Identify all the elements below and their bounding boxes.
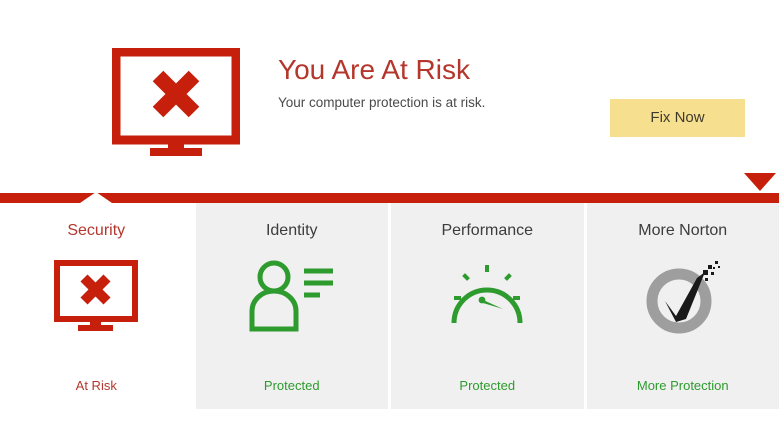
tab-security-status: At Risk [0,378,193,394]
red-divider-bar [0,193,779,203]
status-title: You Are At Risk [278,52,598,88]
tab-identity[interactable]: Identity Protected [193,203,389,409]
identity-card-icon [248,255,336,337]
chevron-down-icon[interactable] [744,173,776,191]
norton-security-window: You Are At Risk Your computer protection… [0,0,779,421]
tab-performance-label: Performance [441,221,533,241]
tab-more-norton-status: More Protection [587,378,779,394]
tab-identity-status: Protected [196,378,389,394]
tab-tile-row: Security At Risk Identity [0,203,779,409]
tab-identity-label: Identity [266,221,318,241]
speedometer-icon [445,255,529,337]
monitor-x-icon [54,255,138,337]
monitor-x-icon [112,48,240,156]
status-subtitle: Your computer protection is at risk. [278,94,598,112]
tab-performance[interactable]: Performance Protected [388,203,584,409]
norton-checkmark-icon [641,255,725,337]
tab-security-label: Security [67,221,125,241]
tab-more-norton[interactable]: More Norton More Protection [584,203,779,409]
status-banner: You Are At Risk Your computer protection… [0,0,779,193]
tab-performance-status: Protected [391,378,584,394]
tab-more-norton-label: More Norton [638,221,727,241]
tab-security[interactable]: Security At Risk [0,203,193,409]
status-text-block: You Are At Risk Your computer protection… [278,52,598,112]
fix-now-button[interactable]: Fix Now [610,99,745,137]
active-tab-notch [80,192,112,203]
bottom-strip [0,409,779,421]
